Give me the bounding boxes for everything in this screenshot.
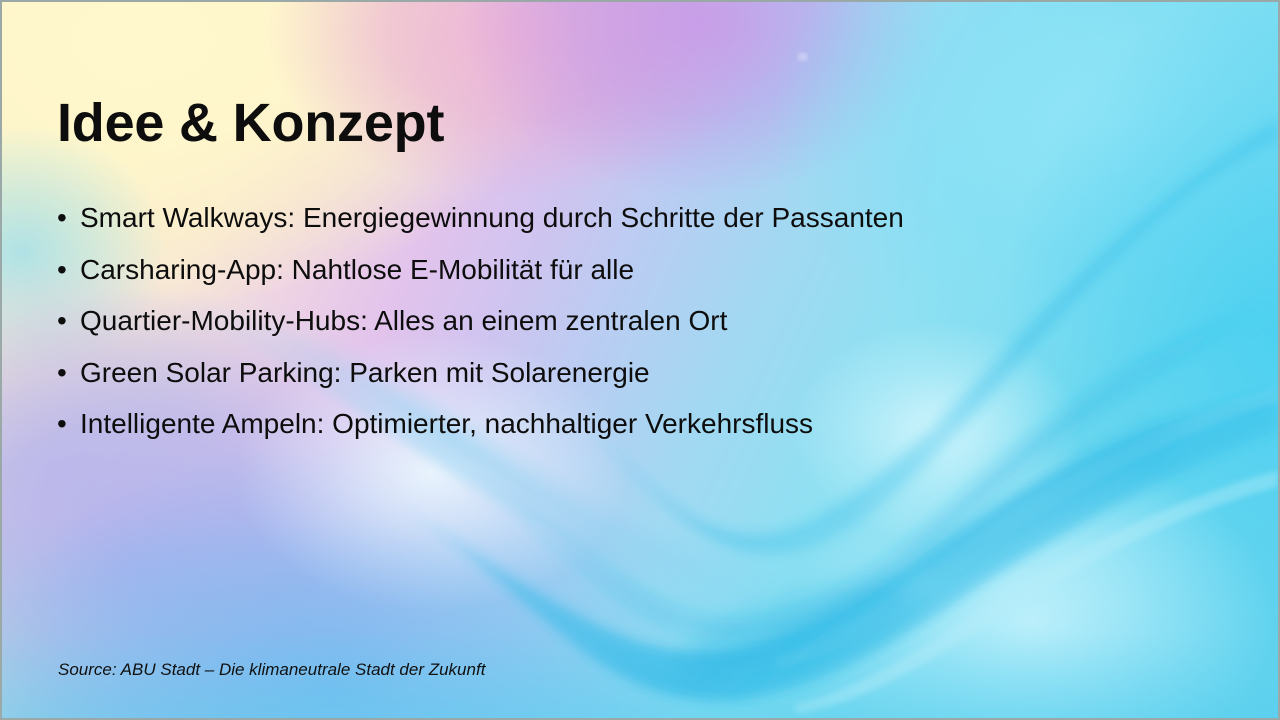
list-item: • Quartier-Mobility-Hubs: Alles an einem… [57,295,1197,347]
bullet-marker-icon: • [57,398,80,450]
list-item: • Green Solar Parking: Parken mit Solare… [57,347,1197,399]
page-title: Idee & Konzept [57,95,444,152]
list-item-label: Smart Walkways: Energiegewinnung durch S… [80,192,904,244]
slide-content: Idee & Konzept • Smart Walkways: Energie… [2,2,1278,718]
source-citation: Source: ABU Stadt – Die klimaneutrale St… [58,660,485,680]
bullet-marker-icon: • [57,244,80,296]
list-item-label: Quartier-Mobility-Hubs: Alles an einem z… [80,295,727,347]
presentation-slide: Idee & Konzept • Smart Walkways: Energie… [0,0,1280,720]
bullet-marker-icon: • [57,347,80,399]
list-item-label: Green Solar Parking: Parken mit Solarene… [80,347,650,399]
list-item-label: Intelligente Ampeln: Optimierter, nachha… [80,398,813,450]
list-item: • Carsharing-App: Nahtlose E-Mobilität f… [57,244,1197,296]
bullet-marker-icon: • [57,295,80,347]
list-item-label: Carsharing-App: Nahtlose E-Mobilität für… [80,244,634,296]
bullet-marker-icon: • [57,192,80,244]
list-item: • Smart Walkways: Energiegewinnung durch… [57,192,1197,244]
list-item: • Intelligente Ampeln: Optimierter, nach… [57,398,1197,450]
bullet-list: • Smart Walkways: Energiegewinnung durch… [57,192,1197,450]
